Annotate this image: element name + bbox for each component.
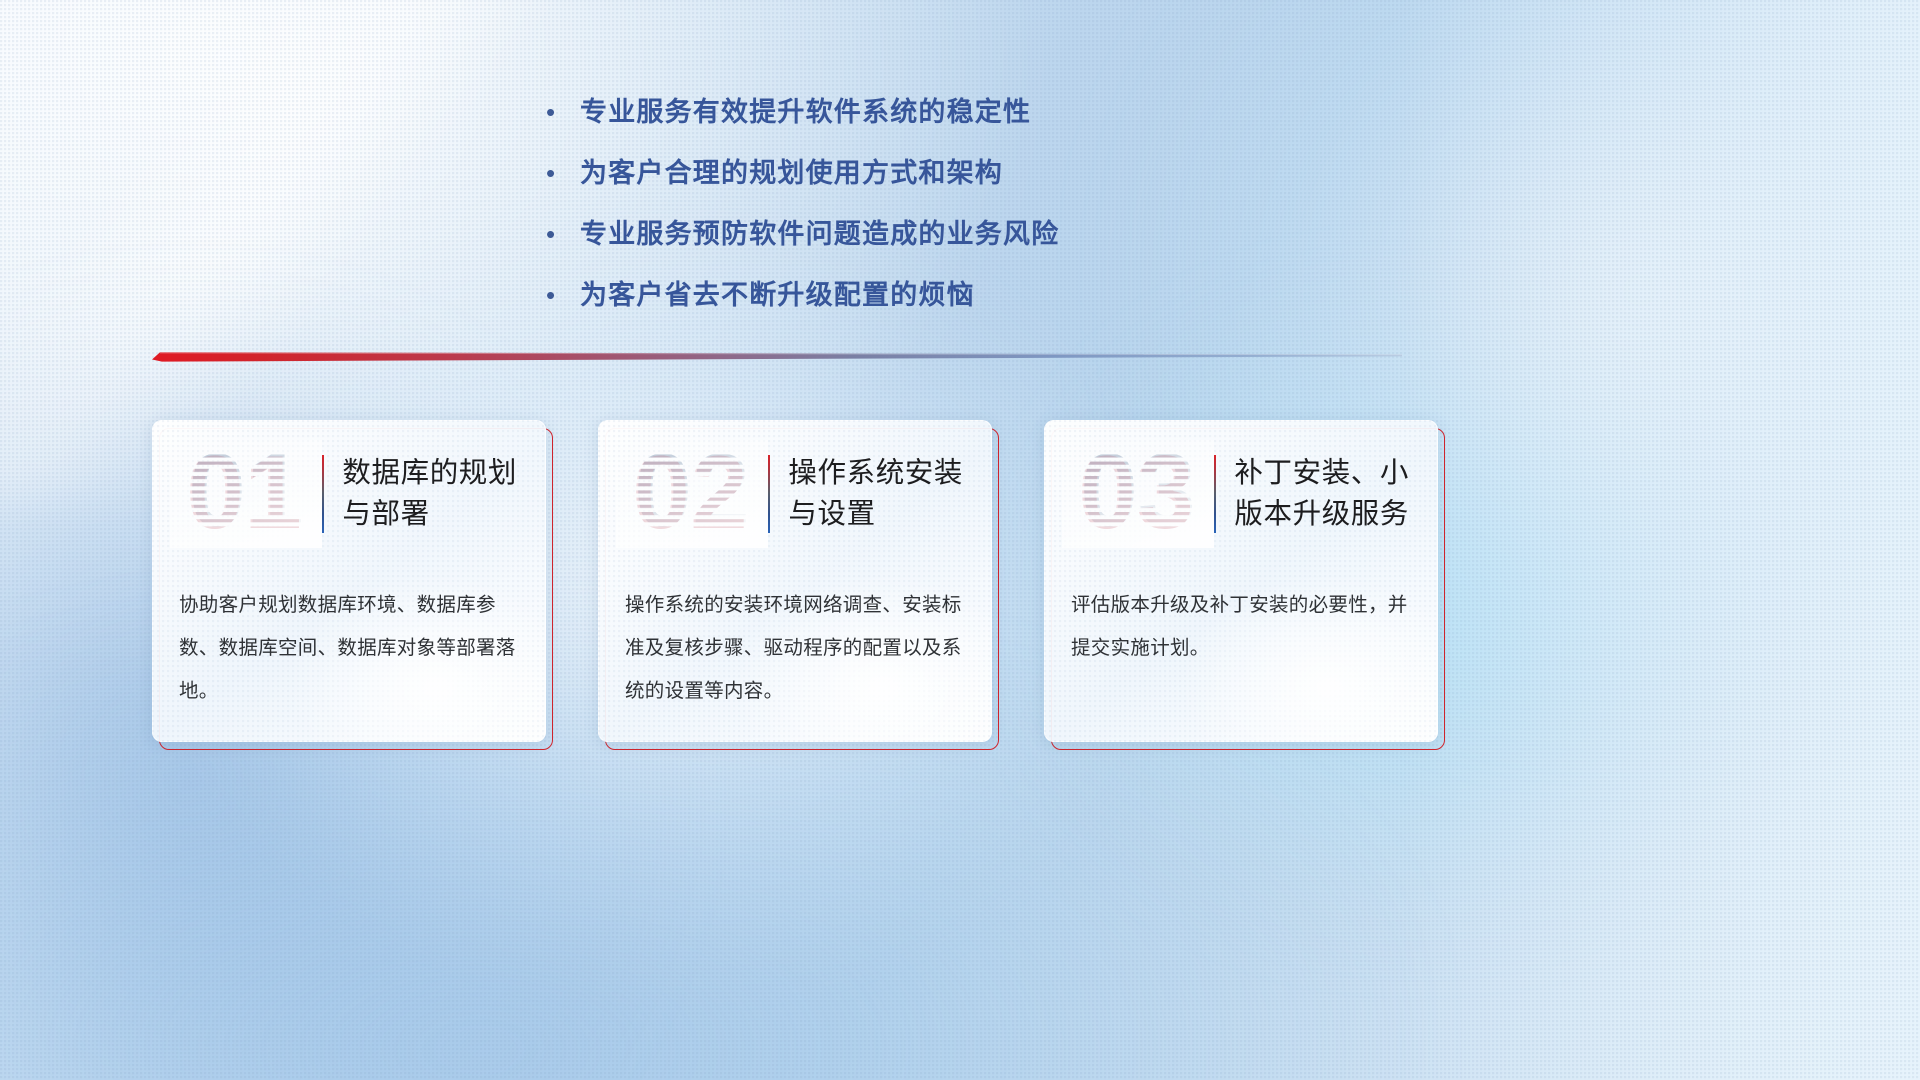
card-description: 评估版本升级及补丁安装的必要性，并提交实施计划。	[1071, 584, 1415, 670]
card-title: 数据库的规划 与部署	[342, 453, 546, 535]
card-number-graphic: 01 01	[170, 439, 322, 549]
card-title-line-1: 补丁安装、小	[1234, 453, 1438, 494]
card-title-divider	[768, 455, 770, 533]
card-surface: 02 02 操作系统安装 与设置 操作系统的安装环	[598, 420, 992, 742]
bullet-item: • 专业服务预防软件问题造成的业务风险	[540, 214, 1300, 254]
service-card[interactable]: 02 02 操作系统安装 与设置 操作系统的安装环	[598, 420, 992, 742]
svg-text:02: 02	[632, 440, 748, 548]
bullet-item: • 为客户合理的规划使用方式和架构	[540, 153, 1300, 193]
bullet-marker-icon: •	[540, 92, 580, 132]
svg-text:03: 03	[1078, 440, 1194, 548]
bullet-label: 为客户合理的规划使用方式和架构	[580, 153, 1003, 193]
card-header: 03 03 补丁安装、小 版本升级服务	[1044, 436, 1438, 552]
service-card-group: 01 01 数据库的规划 与部署 协助客户规划数据	[152, 420, 1472, 750]
bullet-label: 专业服务预防软件问题造成的业务风险	[580, 214, 1059, 254]
card-header: 02 02 操作系统安装 与设置	[598, 436, 992, 552]
card-title: 补丁安装、小 版本升级服务	[1234, 453, 1438, 535]
card-number-graphic: 02 02	[616, 439, 768, 549]
gradient-wedge-divider	[152, 348, 1402, 366]
card-surface: 01 01 数据库的规划 与部署 协助客户规划数据	[152, 420, 546, 742]
card-title-line-1: 数据库的规划	[342, 453, 546, 494]
bullet-marker-icon: •	[540, 153, 580, 193]
service-card[interactable]: 03 03 补丁安装、小 版本升级服务 评估版本升	[1044, 420, 1438, 742]
card-title-line-2: 版本升级服务	[1234, 494, 1438, 535]
card-title-line-1: 操作系统安装	[788, 453, 992, 494]
service-card[interactable]: 01 01 数据库的规划 与部署 协助客户规划数据	[152, 420, 546, 742]
benefits-bullet-list: • 专业服务有效提升软件系统的稳定性 • 为客户合理的规划使用方式和架构 • 专…	[540, 92, 1300, 336]
bullet-label: 为客户省去不断升级配置的烦恼	[580, 275, 975, 315]
card-title-divider	[1214, 455, 1216, 533]
card-surface: 03 03 补丁安装、小 版本升级服务 评估版本升	[1044, 420, 1438, 742]
bullet-label: 专业服务有效提升软件系统的稳定性	[580, 92, 1031, 132]
card-title-line-2: 与设置	[788, 494, 992, 535]
slide-canvas: • 专业服务有效提升软件系统的稳定性 • 为客户合理的规划使用方式和架构 • 专…	[0, 0, 1920, 1080]
card-title: 操作系统安装 与设置	[788, 453, 992, 535]
card-header: 01 01 数据库的规划 与部署	[152, 436, 546, 552]
svg-text:01: 01	[186, 440, 302, 548]
card-title-line-2: 与部署	[342, 494, 546, 535]
bullet-item: • 为客户省去不断升级配置的烦恼	[540, 275, 1300, 315]
card-description: 操作系统的安装环境网络调查、安装标准及复核步骤、驱动程序的配置以及系统的设置等内…	[625, 584, 969, 713]
bullet-marker-icon: •	[540, 275, 580, 315]
card-description: 协助客户规划数据库环境、数据库参数、数据库空间、数据库对象等部署落地。	[179, 584, 523, 713]
card-title-divider	[322, 455, 324, 533]
card-number-graphic: 03 03	[1062, 439, 1214, 549]
bullet-item: • 专业服务有效提升软件系统的稳定性	[540, 92, 1300, 132]
bullet-marker-icon: •	[540, 214, 580, 254]
